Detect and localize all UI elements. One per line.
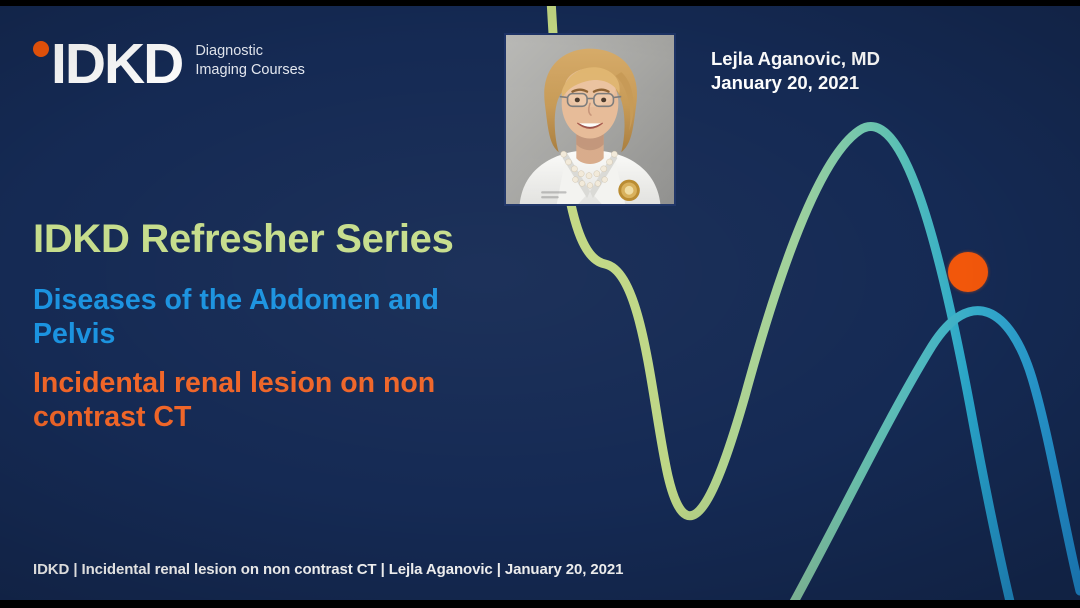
wave-intersection-node xyxy=(948,252,988,292)
presentation-date: January 20, 2021 xyxy=(711,71,880,95)
presenter-name: Lejla Aganovic, MD xyxy=(711,47,880,71)
presenter-info: Lejla Aganovic, MD January 20, 2021 xyxy=(711,47,880,96)
presenter-avatar xyxy=(504,33,676,206)
idkd-logo[interactable]: IDKD Diagnostic Imaging Courses xyxy=(33,35,305,93)
logo-tagline: Diagnostic Imaging Courses xyxy=(195,42,305,79)
slide-canvas: IDKD Diagnostic Imaging Courses xyxy=(0,6,1080,600)
lecture-title: Incidental renal lesion on non contrast … xyxy=(33,366,513,434)
slide-footer: IDKD | Incidental renal lesion on non co… xyxy=(33,561,623,578)
topic-title: Diseases of the Abdomen and Pelvis xyxy=(33,283,513,351)
slide-frame: IDKD Diagnostic Imaging Courses xyxy=(0,0,1080,608)
logo-wordmark: IDKD xyxy=(51,36,182,93)
series-title: IDKD Refresher Series xyxy=(33,218,513,261)
orange-dot-icon xyxy=(33,41,49,57)
title-block: IDKD Refresher Series Diseases of the Ab… xyxy=(33,218,513,434)
